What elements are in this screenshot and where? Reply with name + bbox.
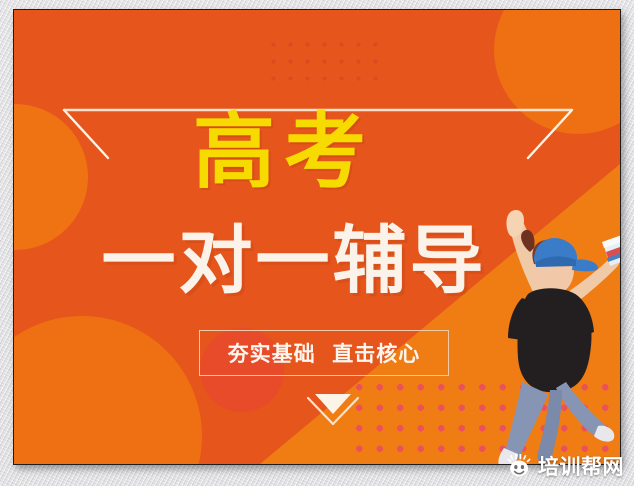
subtitle-text: 夯实基础 直击核心: [228, 338, 421, 368]
watermark-text: 培训帮网: [538, 451, 624, 481]
poster-canvas: 高考 一对一辅导 夯实基础 直击核心: [13, 9, 621, 465]
smiling-sun-icon: [507, 454, 532, 479]
dot-grid-top: [261, 32, 381, 88]
watermark: 培训帮网: [503, 449, 628, 483]
poster-outer-frame: 高考 一对一辅导 夯实基础 直击核心: [0, 0, 634, 486]
decorative-circle-top-right: [494, 9, 621, 134]
decorative-circle-left-middle: [13, 104, 88, 250]
subtitle-box: 夯实基础 直击核心: [199, 330, 449, 376]
corner-bracket-line-icon: [62, 108, 574, 166]
chevron-down-icon: [305, 388, 361, 428]
decorative-circle-bottom-left: [13, 316, 202, 465]
poster-title-primary: 高考: [14, 112, 554, 194]
jumping-student-illustration: [456, 186, 621, 465]
